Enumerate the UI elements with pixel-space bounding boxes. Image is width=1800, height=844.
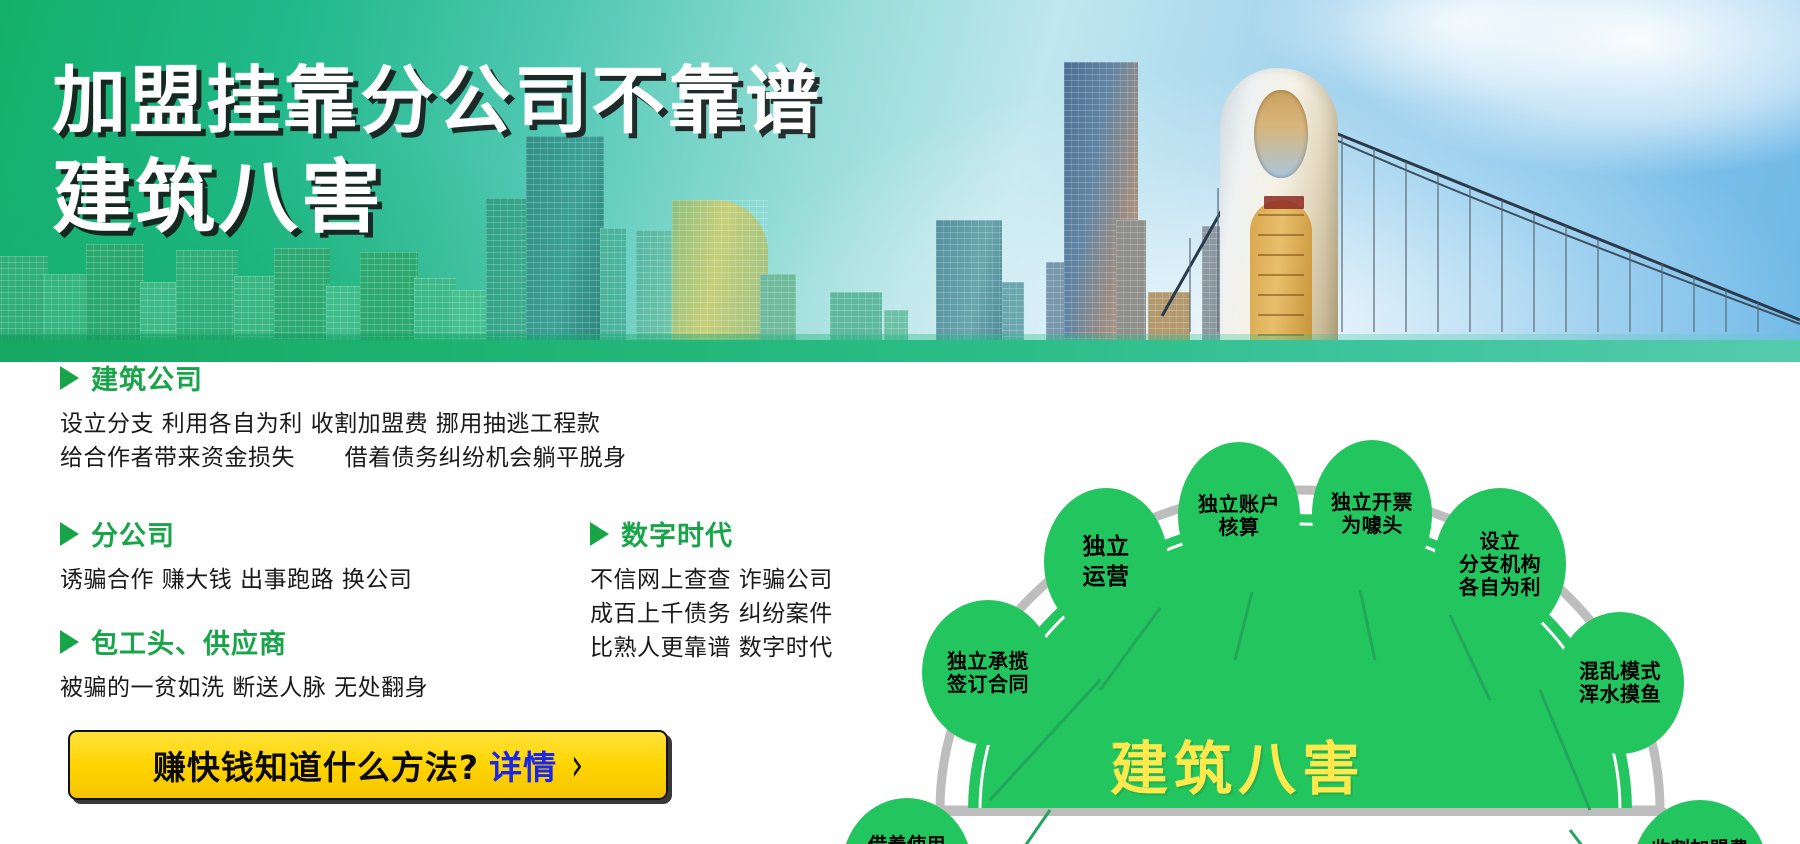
- bubble-line: 独立: [1083, 532, 1130, 562]
- section-line-pair: 给合作者带来资金损失 借着债务纠纷机会躺平脱身: [60, 441, 627, 475]
- bubble-b4[interactable]: 独立账户 核算: [1178, 442, 1300, 590]
- section-title: 数字时代: [621, 514, 733, 553]
- section-line: 成百上千债务 纠纷案件: [590, 597, 833, 631]
- triangle-bullet-icon: [590, 522, 609, 546]
- bubble-line: 混乱模式: [1579, 660, 1661, 683]
- bridge-illustration: [1160, 48, 1800, 348]
- section-line: 设立分支 利用各自为利 收割加盟费 挪用抽逃工程款: [60, 407, 627, 441]
- section-line: 不信网上查查 诈骗公司: [590, 563, 833, 597]
- hero-banner: 加盟挂靠分公司不靠谱 建筑八害: [0, 0, 1800, 362]
- hero-title-line1: 加盟挂靠分公司不靠谱: [52, 58, 822, 144]
- bubble-line: 为噱头: [1341, 514, 1403, 537]
- bubble-line: 独立承揽: [947, 650, 1029, 673]
- section-header: 分公司: [60, 514, 412, 553]
- section-title: 建筑公司: [91, 358, 203, 397]
- section-title: 包工头、供应商: [91, 622, 287, 661]
- triangle-bullet-icon: [60, 522, 79, 546]
- bubble-b2[interactable]: 独立承揽 签订合同: [922, 600, 1054, 745]
- cta-link-label[interactable]: 详情: [489, 741, 557, 789]
- section-header: 数字时代: [590, 514, 833, 553]
- section-line-plain: 给合作者带来资金损失: [60, 445, 295, 471]
- bubble-line: 独立开票: [1331, 491, 1413, 514]
- bubble-line: 设立: [1480, 530, 1521, 553]
- bubble-b3[interactable]: 独立 运营: [1044, 488, 1168, 636]
- triangle-bullet-icon: [60, 630, 79, 654]
- hero-title: 加盟挂靠分公司不靠谱 建筑八害: [52, 58, 822, 246]
- section-contractor-supplier: 包工头、供应商 被骗的一贫如洗 断送人脉 无处翻身: [60, 622, 428, 705]
- triangle-bullet-icon: [60, 366, 79, 390]
- section-digital-era: 数字时代 不信网上查查 诈骗公司 成百上千债务 纠纷案件 比熟人更靠谱 数字时代: [590, 514, 833, 665]
- section-title: 分公司: [91, 514, 175, 553]
- bubble-line: 浑水摸鱼: [1579, 683, 1661, 706]
- bridge-pylon: [1220, 68, 1338, 348]
- bubble-line: 借着使用: [868, 834, 946, 844]
- section-line: 诱骗合作 赚大钱 出事跑路 换公司: [60, 563, 412, 597]
- bubble-line: 收割加盟费: [1651, 838, 1749, 844]
- bubble-b7[interactable]: 混乱模式 浑水摸鱼: [1556, 612, 1684, 754]
- hero-title-line2: 建筑八害: [52, 150, 822, 246]
- dome-center-label: 建筑八害: [1110, 722, 1366, 806]
- cta-button[interactable]: 赚快钱知道什么方法? 详情 ›: [68, 730, 668, 800]
- bubble-line: 签订合同: [947, 673, 1029, 696]
- section-construction-company: 建筑公司 设立分支 利用各自为利 收割加盟费 挪用抽逃工程款 给合作者带来资金损…: [60, 358, 627, 475]
- eight-harms-diagram: 借着使用 总公司资质 业绩和荣誉 独立承揽 签订合同 独立 运营 独立账户 核算…: [800, 360, 1800, 844]
- chevron-right-icon: ›: [571, 739, 583, 792]
- section-branch-company: 分公司 诱骗合作 赚大钱 出事跑路 换公司: [60, 514, 412, 597]
- section-line: 被骗的一贫如洗 断送人脉 无处翻身: [60, 671, 428, 705]
- poster-root: 加盟挂靠分公司不靠谱 建筑八害 建筑公司 设立分支 利用各自为利 收割加盟费 挪…: [0, 0, 1800, 844]
- bubble-line: 分支机构: [1459, 553, 1541, 576]
- bubble-b5[interactable]: 独立开票 为噱头: [1312, 440, 1432, 588]
- bubble-line: 运营: [1083, 562, 1130, 592]
- section-header: 包工头、供应商: [60, 622, 428, 661]
- section-header: 建筑公司: [60, 358, 627, 397]
- bubble-line: 核算: [1219, 516, 1260, 539]
- bubble-b6[interactable]: 设立 分支机构 各自为利: [1434, 488, 1566, 640]
- section-line: 比熟人更靠谱 数字时代: [590, 631, 833, 665]
- cta-question: 赚快钱知道什么方法?: [153, 741, 479, 789]
- bubble-line: 各自为利: [1459, 576, 1541, 599]
- left-content: 建筑公司 设立分支 利用各自为利 收割加盟费 挪用抽逃工程款 给合作者带来资金损…: [0, 362, 900, 844]
- bubble-line: 独立账户: [1198, 493, 1280, 516]
- section-line-highlight: 借着债务纠纷机会躺平脱身: [345, 445, 627, 471]
